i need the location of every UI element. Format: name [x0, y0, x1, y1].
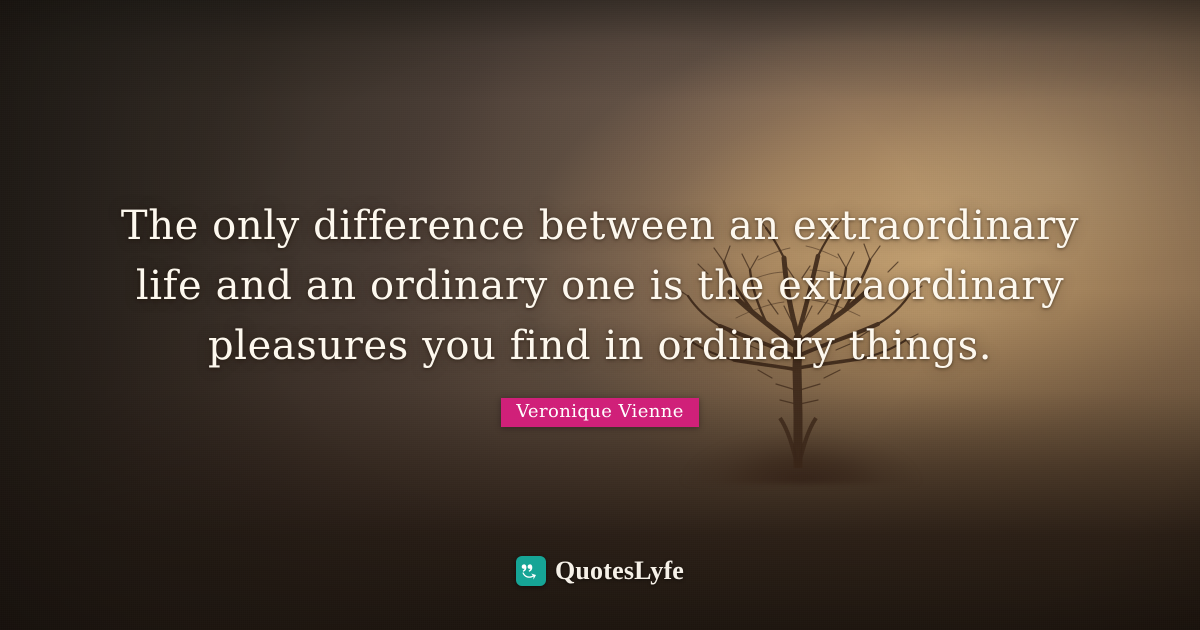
quote-image-canvas: The only difference between an extraordi… — [0, 0, 1200, 630]
brand-footer[interactable]: QuotesLyfe — [0, 556, 1200, 586]
brand-name: QuotesLyfe — [555, 558, 684, 584]
quote-line-2: life and an ordinary one is the extraord… — [0, 256, 1200, 316]
quote-line-3: pleasures you find in ordinary things. — [0, 316, 1200, 376]
quote-line-1: The only difference between an extraordi… — [0, 196, 1200, 256]
author-row: Veronique Vienne — [0, 398, 1200, 427]
quote-smiley-icon — [516, 556, 546, 586]
quote-text: The only difference between an extraordi… — [0, 196, 1200, 376]
author-badge[interactable]: Veronique Vienne — [501, 398, 699, 427]
